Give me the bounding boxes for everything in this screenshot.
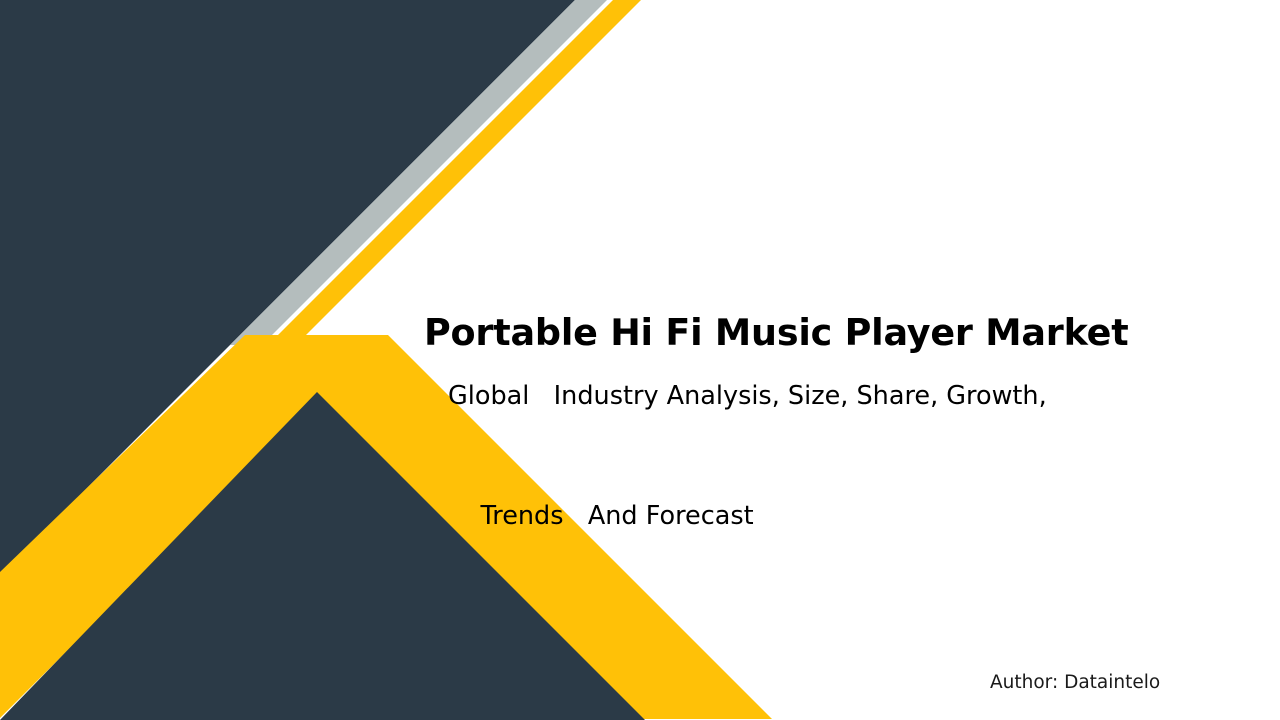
author-label: Author: Dataintelo — [990, 672, 1160, 693]
title-slide: Portable Hi Fi Music Player Market Globa… — [0, 0, 1280, 720]
slide-text-block: Portable Hi Fi Music Player Market Globa… — [424, 312, 1214, 547]
slide-subtitle: Global Industry Analysis, Size, Share, G… — [448, 367, 1214, 547]
page-title: Portable Hi Fi Music Player Market — [424, 312, 1214, 354]
grey-diagonal-band — [230, 0, 607, 345]
yellow-diagonal-stripe — [272, 0, 641, 341]
